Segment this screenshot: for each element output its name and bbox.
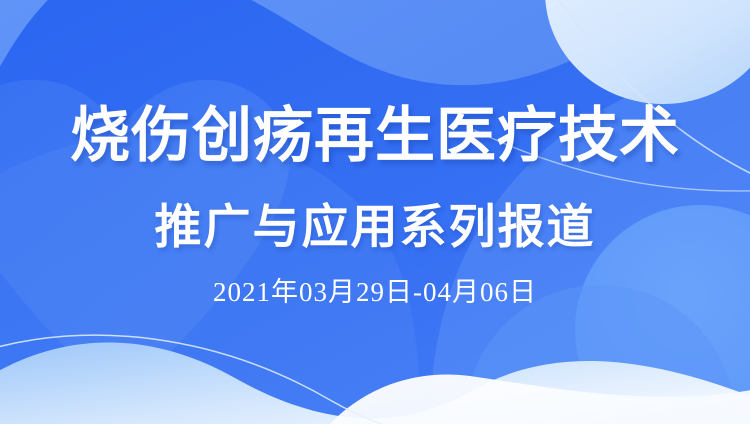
promo-banner: 烧伤创疡再生医疗技术 推广与应用系列报道 2021年03月29日-04月06日 <box>0 0 750 424</box>
banner-text-layer: 烧伤创疡再生医疗技术 推广与应用系列报道 2021年03月29日-04月06日 <box>0 0 750 424</box>
banner-subtitle: 推广与应用系列报道 <box>0 202 750 254</box>
date-range-label: 2021年03月29日-04月06日 <box>0 275 750 309</box>
page-title: 烧伤创疡再生医疗技术 <box>0 104 750 168</box>
